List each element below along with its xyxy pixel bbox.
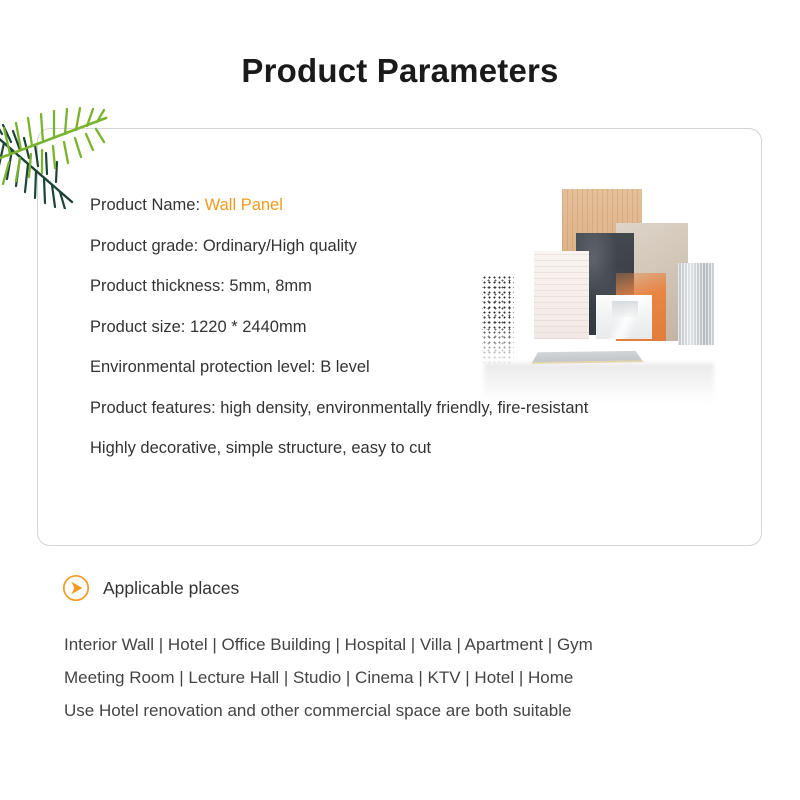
applicable-places-title: Applicable places bbox=[103, 578, 239, 599]
circled-arrow-right-icon bbox=[62, 574, 90, 602]
spec-product-name: Product Name: Wall Panel bbox=[90, 197, 730, 214]
spec-grade: Product grade: Ordinary/High quality bbox=[90, 238, 730, 255]
spec-product-name-value: Wall Panel bbox=[205, 196, 283, 214]
spec-list: Product Name: Wall Panel Product grade: … bbox=[90, 197, 730, 457]
places-line-1: Interior Wall | Hotel | Office Building … bbox=[64, 636, 764, 653]
spec-environmental: Environmental protection level: B level bbox=[90, 359, 730, 376]
spec-features: Product features: high density, environm… bbox=[90, 400, 730, 417]
spec-product-name-label: Product Name: bbox=[90, 196, 200, 214]
applicable-places-list: Interior Wall | Hotel | Office Building … bbox=[64, 636, 764, 719]
product-parameters-card: Product Name: Wall Panel Product grade: … bbox=[37, 128, 762, 546]
spec-size: Product size: 1220 * 2440mm bbox=[90, 319, 730, 336]
applicable-places-heading: Applicable places bbox=[62, 574, 239, 602]
places-line-3: Use Hotel renovation and other commercia… bbox=[64, 702, 764, 719]
spec-extra-features: Highly decorative, simple structure, eas… bbox=[90, 440, 730, 457]
page-title: Product Parameters bbox=[0, 52, 800, 90]
places-line-2: Meeting Room | Lecture Hall | Studio | C… bbox=[64, 669, 764, 686]
spec-thickness: Product thickness: 5mm, 8mm bbox=[90, 278, 730, 295]
